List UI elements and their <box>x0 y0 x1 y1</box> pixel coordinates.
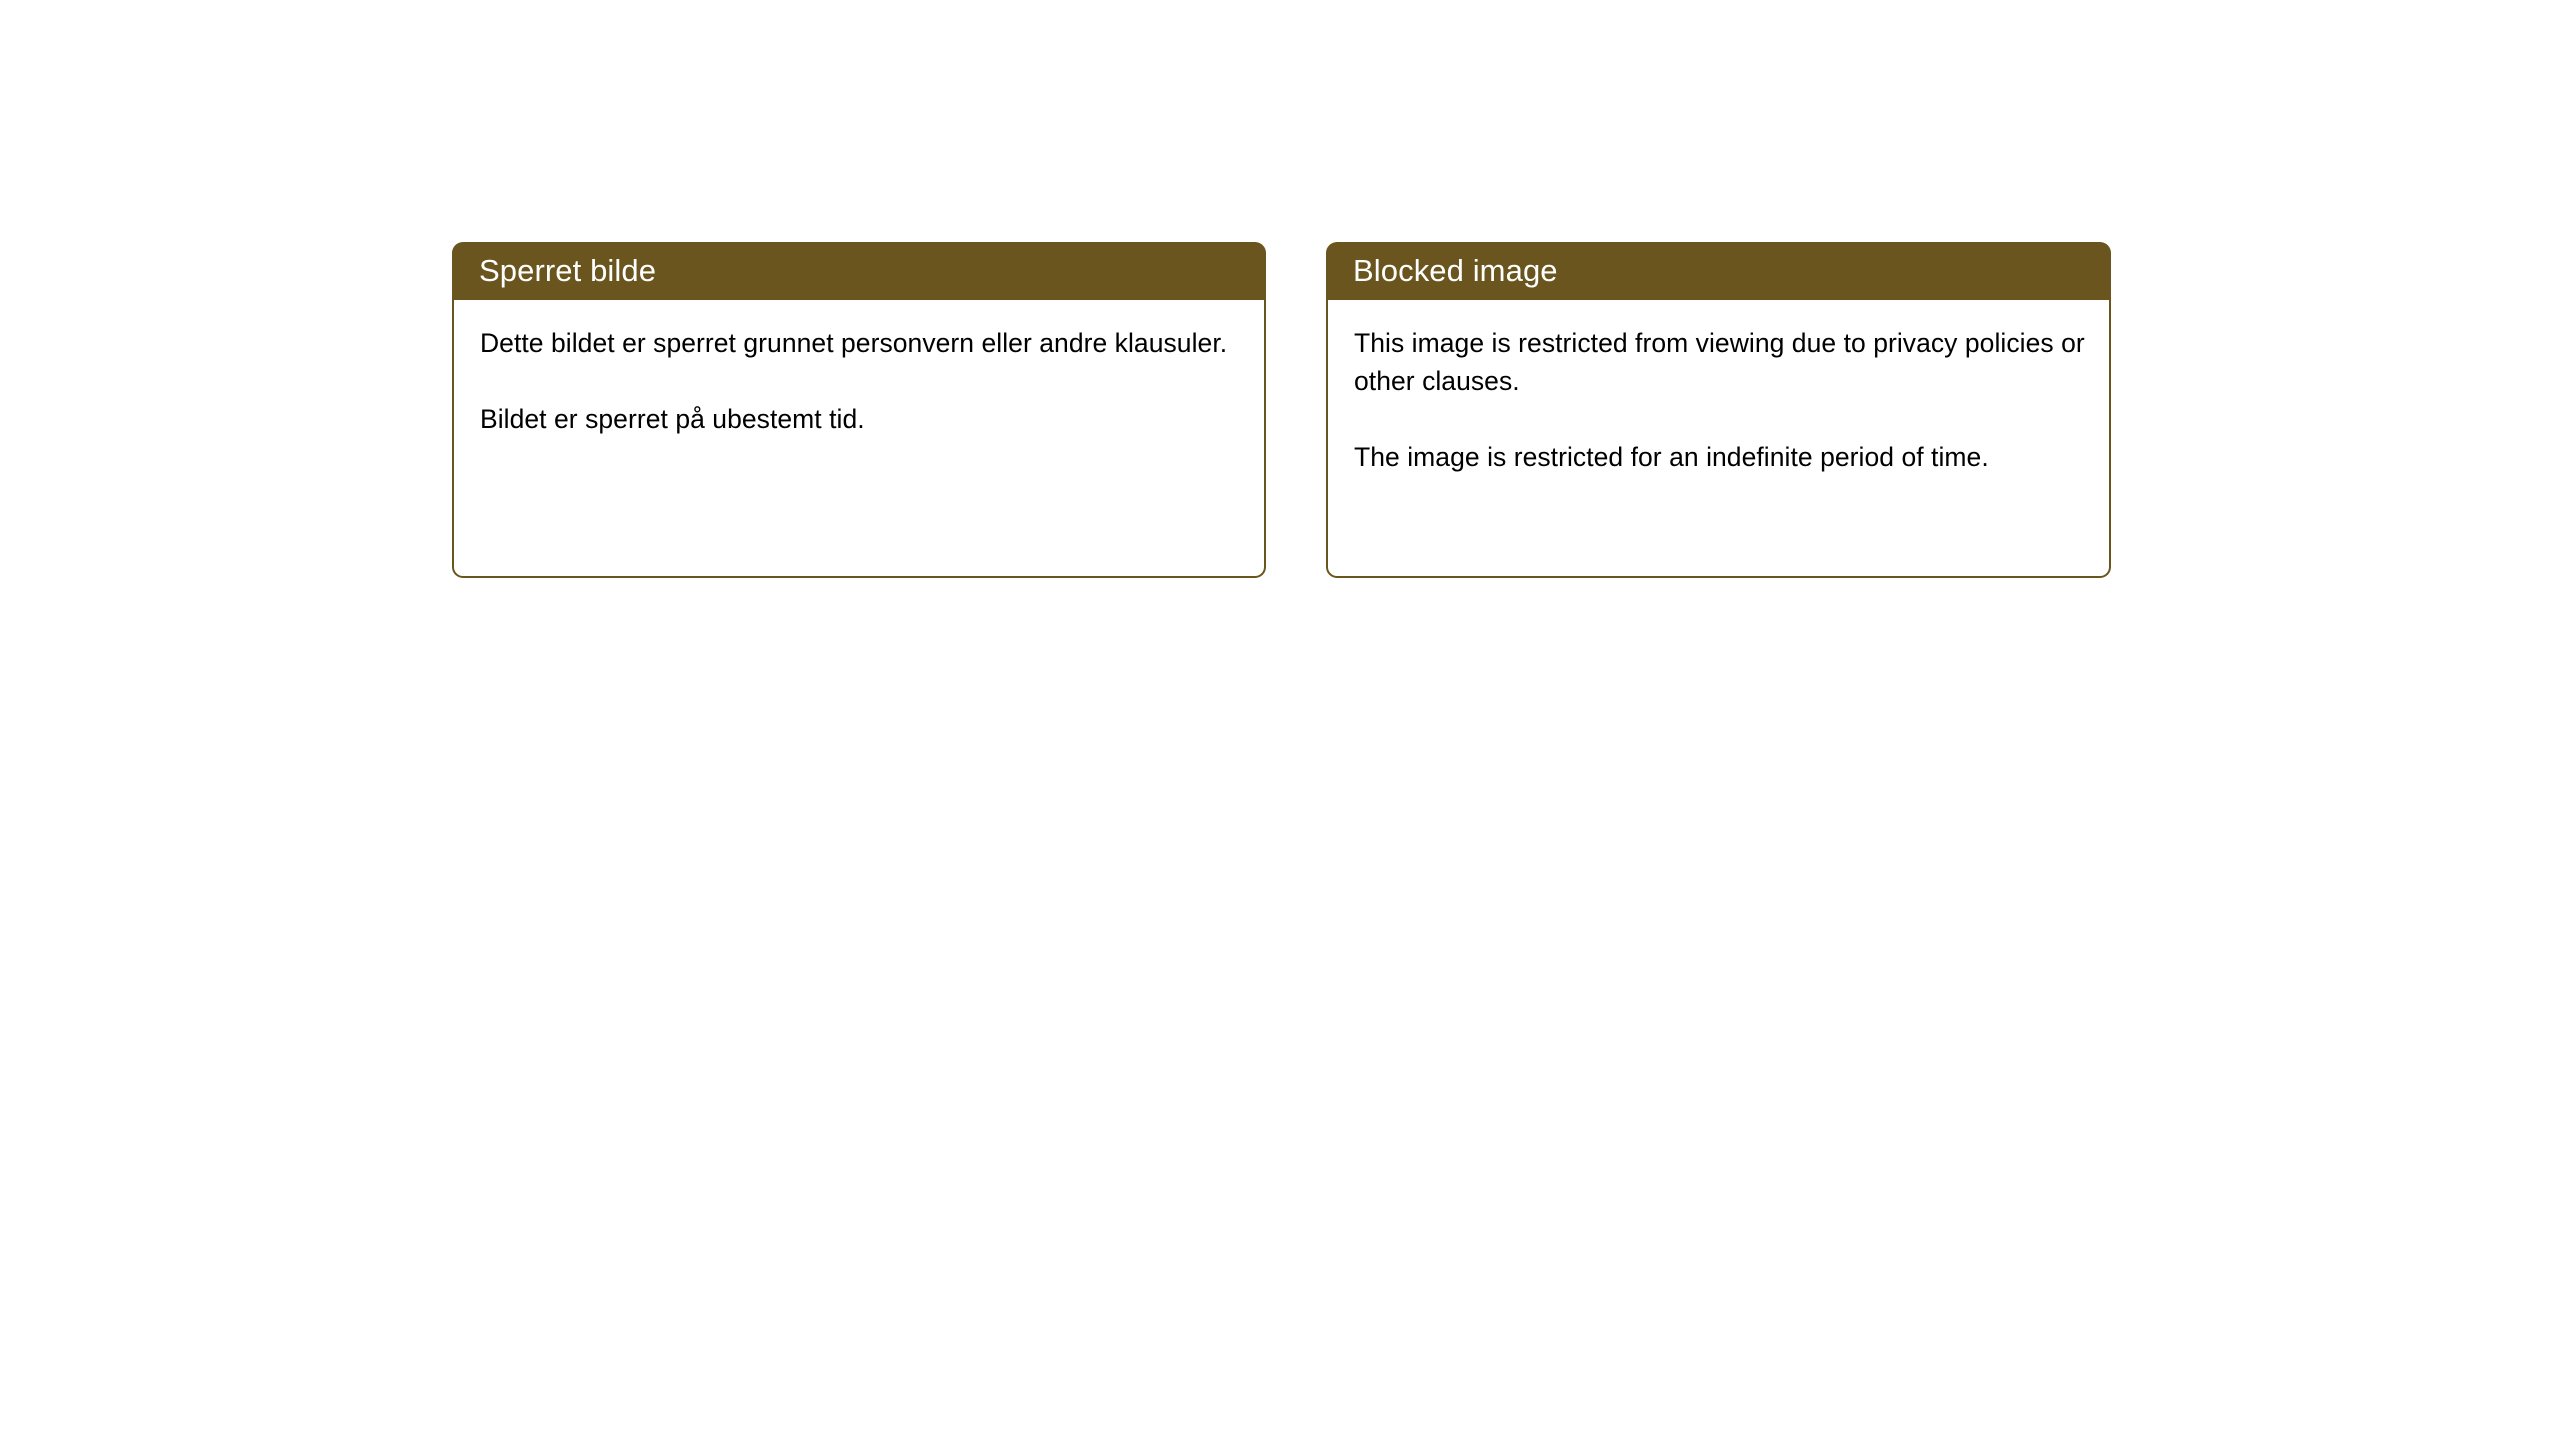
page-canvas: Sperret bilde Dette bildet er sperret gr… <box>0 0 2560 1440</box>
card-title-english: Blocked image <box>1353 253 1558 289</box>
card-header-english: Blocked image <box>1326 242 2111 300</box>
blocked-image-notice-english: Blocked image This image is restricted f… <box>1326 242 2111 579</box>
notice-paragraph-reason-norwegian: Dette bildet er sperret grunnet personve… <box>480 324 1242 362</box>
notice-paragraph-duration-english: The image is restricted for an indefinit… <box>1354 438 2087 476</box>
card-header-norwegian: Sperret bilde <box>452 242 1266 300</box>
notice-paragraph-duration-norwegian: Bildet er sperret på ubestemt tid. <box>480 400 1242 438</box>
notice-paragraph-reason-english: This image is restricted from viewing du… <box>1354 324 2087 400</box>
card-body-norwegian: Dette bildet er sperret grunnet personve… <box>452 300 1266 578</box>
blocked-image-notice-norwegian: Sperret bilde Dette bildet er sperret gr… <box>452 242 1266 579</box>
card-title-norwegian: Sperret bilde <box>479 253 656 289</box>
card-body-english: This image is restricted from viewing du… <box>1326 300 2111 578</box>
